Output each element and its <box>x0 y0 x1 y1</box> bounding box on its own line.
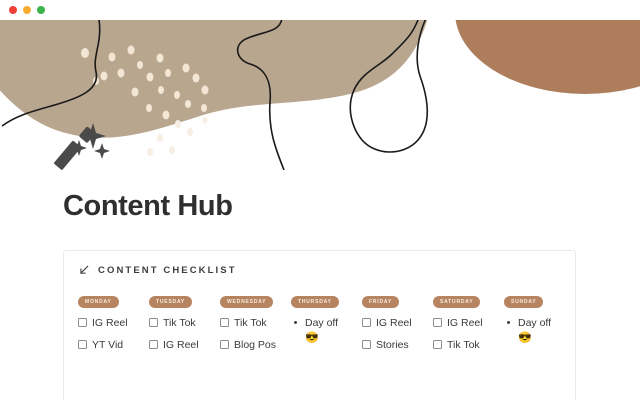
task-label: Day off😎 <box>305 316 338 347</box>
minimize-button[interactable] <box>23 6 31 14</box>
task-label: IG Reel <box>376 316 412 331</box>
page-cover-banner <box>0 20 640 170</box>
checkbox[interactable] <box>149 318 158 327</box>
checklist-item[interactable]: IG Reel <box>78 316 147 331</box>
task-label: Stories <box>376 338 409 353</box>
window-titlebar <box>0 0 640 20</box>
checklist-item[interactable]: YT Vid <box>78 338 147 353</box>
day-badge: SATURDAY <box>433 296 480 308</box>
checklist-item[interactable]: Stories <box>362 338 431 353</box>
task-label: Tik Tok <box>234 316 267 331</box>
task-label: IG Reel <box>92 316 128 331</box>
day-column: THURSDAY•Day off😎 <box>291 290 362 360</box>
checklist-item[interactable]: Tik Tok <box>220 316 289 331</box>
list-item[interactable]: •Day off😎 <box>504 316 573 347</box>
checklist-item[interactable]: Blog Pos <box>220 338 289 353</box>
checklist-item[interactable]: IG Reel <box>433 316 502 331</box>
task-label: IG Reel <box>447 316 483 331</box>
checkbox[interactable] <box>433 318 442 327</box>
checklist-item[interactable]: IG Reel <box>362 316 431 331</box>
task-label: YT Vid <box>92 338 123 353</box>
checklist-header: CONTENT CHECKLIST <box>64 265 575 276</box>
close-button[interactable] <box>9 6 17 14</box>
day-badge: WEDNESDAY <box>220 296 273 308</box>
content-checklist-card: CONTENT CHECKLIST MONDAYIG ReelYT VidTUE… <box>63 250 576 400</box>
day-column: SATURDAYIG ReelTik Tok <box>433 290 504 360</box>
page-title: Content Hub <box>0 170 640 223</box>
emoji-sunglasses: 😎 <box>518 332 532 344</box>
checkbox[interactable] <box>78 340 87 349</box>
day-badge: SUNDAY <box>504 296 543 308</box>
checkbox[interactable] <box>362 340 371 349</box>
checkbox[interactable] <box>433 340 442 349</box>
day-badge: MONDAY <box>78 296 119 308</box>
checklist-item[interactable]: Tik Tok <box>149 316 218 331</box>
list-item[interactable]: •Day off😎 <box>291 316 360 347</box>
day-column: TUESDAYTik TokIG Reel <box>149 290 220 360</box>
bullet-icon: • <box>291 316 300 332</box>
task-label: Day off😎 <box>518 316 551 347</box>
day-column: FRIDAYIG ReelStories <box>362 290 433 360</box>
task-label: IG Reel <box>163 338 199 353</box>
task-label: Blog Pos <box>234 338 276 353</box>
maximize-button[interactable] <box>37 6 45 14</box>
day-column: WEDNESDAYTik TokBlog Pos <box>220 290 291 360</box>
checklist-title: CONTENT CHECKLIST <box>98 265 237 276</box>
emoji-sunglasses: 😎 <box>305 332 319 344</box>
day-column: SUNDAY•Day off😎 <box>504 290 575 360</box>
checkbox[interactable] <box>78 318 87 327</box>
checklist-day-columns: MONDAYIG ReelYT VidTUESDAYTik TokIG Reel… <box>64 290 575 360</box>
app-window: Content Hub CONTENT CHECKLIST MONDAYIG R… <box>0 0 640 400</box>
arrow-down-right-icon[interactable] <box>78 265 89 276</box>
checkbox[interactable] <box>149 340 158 349</box>
task-label: Tik Tok <box>447 338 480 353</box>
checkbox[interactable] <box>220 318 229 327</box>
checklist-item[interactable]: IG Reel <box>149 338 218 353</box>
banner-artwork <box>0 20 640 170</box>
day-badge: TUESDAY <box>149 296 192 308</box>
page-body: Content Hub <box>0 170 640 223</box>
banner-blob-shape <box>0 20 430 138</box>
traffic-lights <box>9 6 45 14</box>
day-badge: THURSDAY <box>291 296 339 308</box>
task-label: Tik Tok <box>163 316 196 331</box>
day-column: MONDAYIG ReelYT Vid <box>78 290 149 360</box>
banner-circle-shape <box>455 20 640 94</box>
day-badge: FRIDAY <box>362 296 399 308</box>
checklist-item[interactable]: Tik Tok <box>433 338 502 353</box>
checkbox[interactable] <box>362 318 371 327</box>
checkbox[interactable] <box>220 340 229 349</box>
bullet-icon: • <box>504 316 513 332</box>
